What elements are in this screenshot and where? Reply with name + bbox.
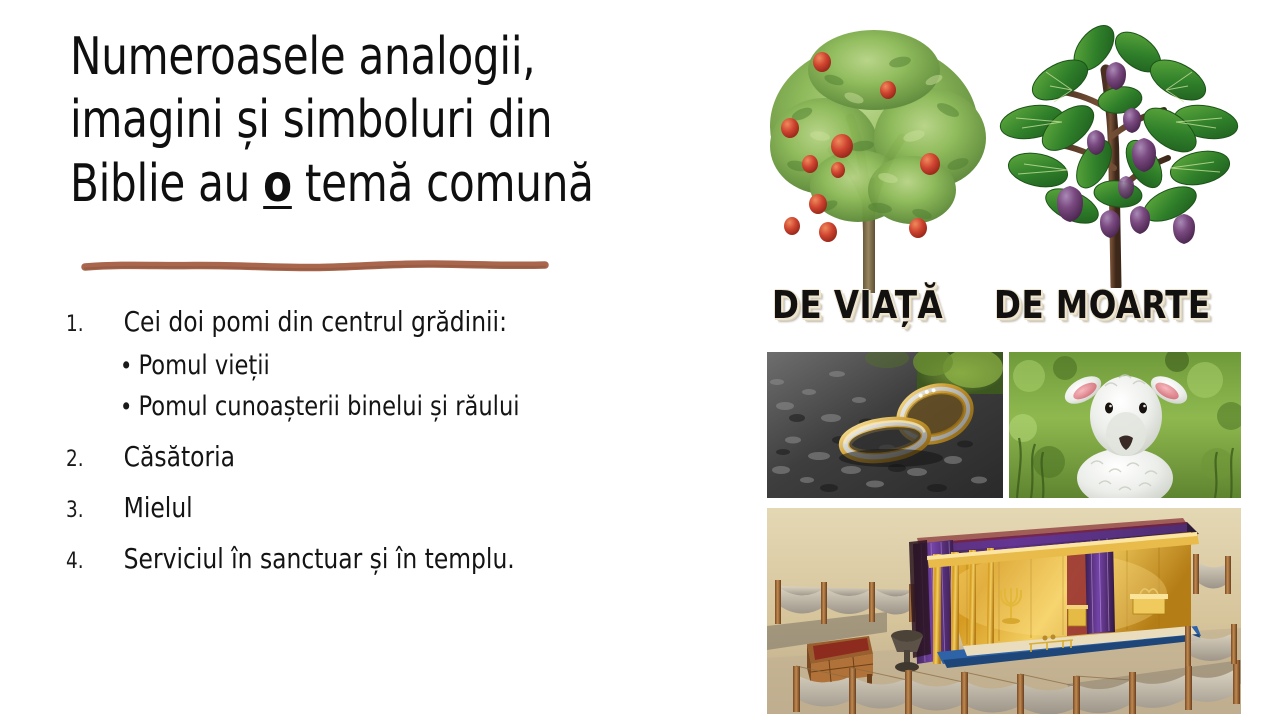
list-item: • Pomul cunoașterii binelui și răului (66, 391, 680, 422)
list-item: 3. Mielul (66, 491, 680, 524)
text-column: Numeroasele analogii, imagini și simbolu… (0, 0, 740, 720)
title-line-3: Biblie au o temă comună (70, 154, 594, 214)
bullet-icon: • (120, 353, 139, 378)
list-item-label: Cei doi pomi din centrul grădinii: (124, 305, 680, 338)
wedding-rings-photo (767, 352, 1003, 498)
slide-canvas: Numeroasele analogii, imagini și simbolu… (0, 0, 1280, 720)
list-item-label: Mielul (124, 491, 680, 524)
image-column: DE VIAȚĂ DE MOARTE (740, 0, 1280, 720)
list-marker: 1. (66, 312, 124, 337)
caption-tree-of-life: DE VIAȚĂ (772, 283, 943, 327)
fig-tree-illustration (998, 18, 1248, 288)
lamb-photo (1009, 352, 1241, 498)
page-title: Numeroasele analogii, imagini și simbolu… (70, 26, 628, 216)
list-item: 4. Serviciul în sanctuar și în templu. (66, 542, 680, 575)
tree-comparison-group: DE VIAȚĂ DE MOARTE (740, 0, 1280, 340)
list-marker: 3. (66, 498, 124, 523)
title-line-3-before: Biblie au (70, 154, 263, 214)
list-marker: 4. (66, 549, 124, 574)
list-item-label: Serviciul în sanctuar și în templu. (124, 542, 680, 575)
list-item: • Pomul vieții (66, 350, 680, 381)
apple-tree-illustration (762, 18, 992, 293)
bullet-icon: • (120, 394, 139, 419)
list-item-label: Pomul cunoașterii binelui și răului (139, 391, 680, 422)
tabernacle-render (767, 508, 1241, 714)
list-item-label: Pomul vieții (139, 350, 680, 381)
wavy-rule-icon (84, 258, 546, 274)
divider (84, 258, 546, 274)
title-line-2: imagini și simboluri din (70, 90, 552, 150)
title-line-3-after: temă comună (292, 154, 594, 214)
numbered-list: 1. Cei doi pomi din centrul grădinii: • … (66, 305, 726, 587)
title-line-1: Numeroasele analogii, (70, 27, 535, 87)
list-marker: 2. (66, 447, 124, 472)
caption-tree-of-death: DE MOARTE (994, 283, 1211, 327)
list-item: 1. Cei doi pomi din centrul grădinii: (66, 305, 680, 338)
list-item-label: Căsătoria (124, 440, 680, 473)
title-emphasis-word: o (263, 154, 292, 214)
list-item: 2. Căsătoria (66, 440, 680, 473)
